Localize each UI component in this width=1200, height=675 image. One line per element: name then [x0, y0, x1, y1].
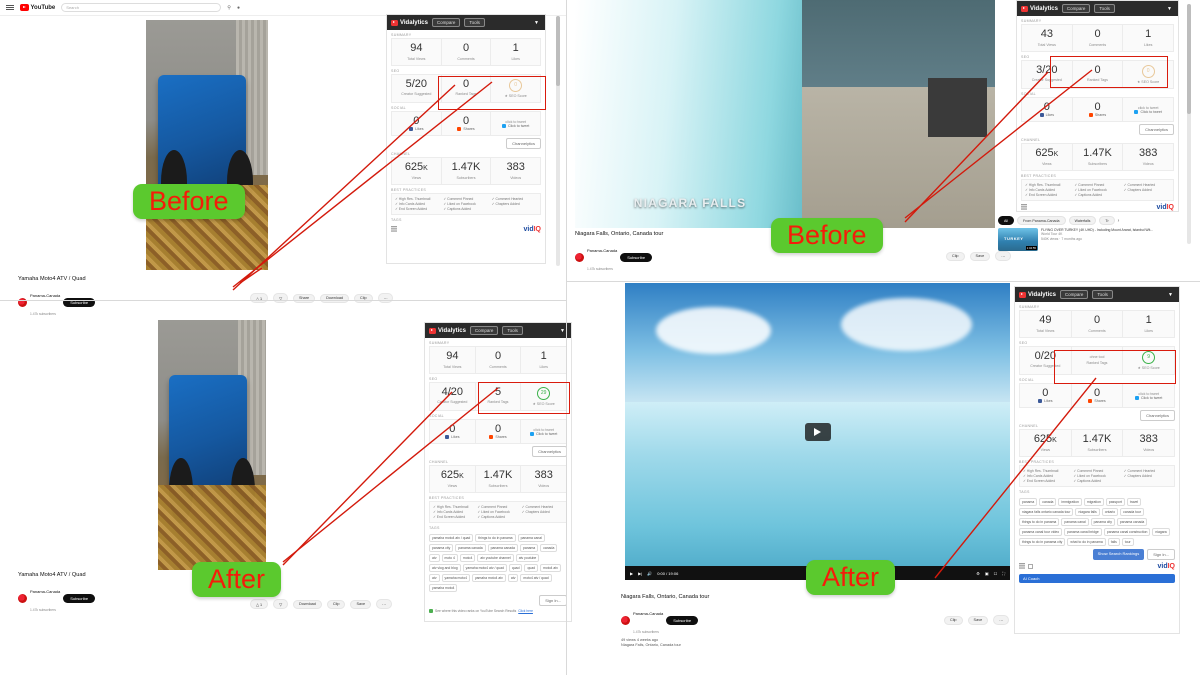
tag-chip[interactable]: atv: [508, 574, 519, 582]
bp-item: ✓ Liked on Facebook: [477, 510, 518, 514]
tag-buttons-row: Show Search Rankings Sign In...: [1019, 549, 1175, 560]
save-button[interactable]: Save: [968, 616, 989, 625]
compare-button[interactable]: Compare: [470, 326, 499, 335]
after-badge-right: After: [806, 560, 895, 595]
stat-social-shares: 0 Shares: [442, 112, 492, 136]
tag-chip[interactable]: atv: [429, 554, 440, 562]
channel-name[interactable]: Panama-Canada: [30, 293, 60, 298]
tag-chip[interactable]: things to do in panama: [1019, 518, 1059, 526]
stat-value: 1: [1124, 315, 1173, 327]
summary-section-label: SUMMARY: [1015, 302, 1179, 310]
stat-channel-subscribers: 1.47K Subscribers: [442, 158, 492, 184]
stat-label: Subscribers: [1073, 448, 1122, 452]
stat-social-likes: 0 Likes: [392, 112, 442, 136]
vidiq-play-icon: [1021, 6, 1028, 12]
bp-item: ✓ Info Cards Added: [395, 202, 440, 206]
suggested-thumbnail[interactable]: TURKEY 1:04:55: [998, 228, 1038, 251]
more-button[interactable]: ⋯: [995, 251, 1011, 261]
quadrant-top-left: YouTube Search ⚲ ● Yamaha Moto4 ATV / Qu…: [0, 0, 566, 300]
after-badge-left: After: [192, 562, 281, 597]
tag-chip[interactable]: yamaha moto4 atv: [472, 574, 506, 582]
best-practices-label: BEST PRACTICES: [425, 493, 571, 501]
chip-from-channel[interactable]: From Panama-Canada: [1017, 216, 1066, 225]
ai-coach-button[interactable]: AI Coach: [1019, 574, 1175, 583]
subscriber-count: 1.47k subscribers: [633, 630, 659, 634]
tag-chip[interactable]: moto4 atv: [540, 564, 561, 572]
stat-value: 0: [1021, 388, 1070, 400]
tag-chip[interactable]: atv youtube channel: [477, 554, 513, 562]
bp-item: ✓ Captions Added: [1073, 479, 1120, 483]
youtube-play-icon: [20, 4, 29, 11]
chevron-down-icon[interactable]: ▼: [534, 20, 541, 26]
video-title[interactable]: Yamaha Moto4 ATV / Quad: [18, 572, 138, 578]
video-action-bar: △ 1 ▽ Download Clip Save ⋯: [250, 599, 392, 609]
tag-chip[interactable]: panama canada: [455, 544, 485, 552]
tag-chip[interactable]: panama canada: [1117, 518, 1147, 526]
vidiq-logo: Vidalytics: [391, 20, 428, 26]
stat-value: 383: [1124, 434, 1173, 446]
autumn-leaves-ground: [158, 485, 266, 570]
channelytics-button[interactable]: Channelytics: [532, 446, 567, 457]
stat-label: Likes: [522, 365, 565, 369]
tag-chip[interactable]: panama city: [1091, 518, 1115, 526]
bp-item: ✓ High Res. Thumbnail: [1025, 183, 1071, 187]
video-thumbnail-atv-after[interactable]: [158, 320, 266, 570]
bp-item: ✓ Comment Hearted: [522, 505, 563, 509]
vidiq-brand-label: Vidalytics: [400, 20, 428, 26]
stat-label: Videos: [1124, 162, 1172, 166]
chip-all[interactable]: All: [998, 216, 1014, 225]
bp-item: ✓ Info Cards Added: [1025, 188, 1071, 192]
vidiq-panel-bottom-left: Vidalytics Compare Tools ▼ SUMMARY 94 To…: [424, 322, 572, 622]
stat-channel-videos: 383 Videos: [491, 158, 540, 184]
chevron-down-icon[interactable]: ▼: [1167, 6, 1174, 12]
tag-chip[interactable]: yamaha moto4 atv / quad: [463, 564, 507, 572]
video-description-block[interactable]: 49 views 4 weeks ago Niagara Falls, Onta…: [621, 638, 861, 647]
thumbnail-caption: NIAGARA FALLS: [634, 196, 747, 210]
tag-chip[interactable]: yamaha moto4: [442, 574, 470, 582]
summary-section-label: SUMMARY: [1017, 16, 1178, 24]
stat-value: 1: [492, 43, 539, 55]
youtube-logo[interactable]: YouTube: [20, 4, 55, 11]
tag-list-bottom-left: yamaha moto4 atv / quadthings to do in p…: [429, 534, 567, 592]
gear-icon[interactable]: ⚙: [976, 571, 980, 576]
bp-item: ✓ Captions Added: [1074, 193, 1120, 197]
tags-label: TAGS: [425, 523, 571, 531]
channel-section-label: CHANNEL: [425, 457, 571, 465]
dislike-button[interactable]: ▽: [273, 599, 288, 609]
miniplayer-icon[interactable]: ▣: [985, 571, 989, 576]
grid-icon[interactable]: [1021, 204, 1027, 210]
sign-in-button[interactable]: Sign In...: [1147, 549, 1175, 560]
quadrant-bottom-left: Yamaha Moto4 ATV / Quad Panama-Canada 1.…: [0, 300, 566, 630]
chevron-right-icon[interactable]: ›: [1118, 218, 1120, 224]
vidiq-logo: Vidalytics: [1019, 292, 1056, 298]
best-practices-grid: ✓ High Res. Thumbnail ✓ Comment Pinned ✓…: [429, 501, 567, 523]
bp-item: ✓ High Res. Thumbnail: [1023, 469, 1070, 473]
scrollbar-top-left[interactable]: [556, 16, 560, 266]
stat-label: Subscribers: [477, 484, 520, 488]
facebook-like[interactable]: Likes: [393, 127, 440, 131]
social-row: 0 Likes 0 Shares click to tweet Click to…: [391, 111, 541, 137]
hamburger-icon[interactable]: [6, 5, 14, 11]
twitter-share[interactable]: Click to tweet: [1124, 396, 1173, 400]
tools-button[interactable]: Tools: [1092, 290, 1113, 299]
chevron-down-icon[interactable]: ▼: [1168, 292, 1175, 298]
search-input[interactable]: Search: [61, 3, 221, 12]
avatar[interactable]: [18, 594, 27, 603]
tag-chip[interactable]: moto4: [460, 554, 475, 562]
seo-section-label: SEO: [387, 66, 545, 74]
video-player-niagara-after[interactable]: ▶ ▶| 🔊 0:00 / 19:06 ⚙ ▣ ☐ ⛶: [625, 283, 1010, 580]
channel-row-stats: 625K Views 1.47K Subscribers 383 Videos: [1021, 143, 1174, 171]
tag-chip[interactable]: panama: [1019, 498, 1037, 506]
stat-value: 625: [1034, 433, 1052, 445]
video-title[interactable]: Niagara Falls, Ontario, Canada tour: [575, 231, 775, 237]
bp-item: ✓ Comment Pinned: [443, 197, 488, 201]
suggested-sidebar: All From Panama-Canada Waterfalls Tr › T…: [998, 216, 1178, 251]
stat-social-likes: 0 Likes: [1022, 98, 1073, 122]
stat-label: Creator Suggested: [393, 92, 440, 96]
bp-item: ✓ Chapters Added: [1124, 474, 1171, 478]
stat-channel-videos: 383 Videos: [1123, 430, 1174, 456]
save-button[interactable]: Save: [350, 600, 371, 609]
download-button[interactable]: Download: [293, 600, 322, 609]
channelytics-button[interactable]: Channelytics: [1139, 124, 1174, 135]
tag-chip[interactable]: atv youtube: [516, 554, 540, 562]
stat-value: 625: [441, 469, 459, 481]
horizontal-divider-left: [0, 300, 566, 301]
tag-buttons-row: Sign In...: [429, 595, 567, 606]
seo-highlight-box-top-left: [438, 76, 546, 110]
play-icon[interactable]: ▶: [630, 571, 633, 576]
quadrant-bottom-right: ▶ ▶| 🔊 0:00 / 19:06 ⚙ ▣ ☐ ⛶ Niagara Fall…: [566, 282, 1200, 675]
stat-comments: 0 Comments: [1073, 25, 1124, 51]
channel-row-stats: 625K Views 1.47K Subscribers 383 Videos: [391, 157, 541, 185]
video-duration: 1:04:55: [1026, 246, 1037, 250]
tag-chip[interactable]: niagara falls: [1075, 508, 1099, 516]
footnote-link[interactable]: Click here: [518, 609, 533, 613]
before-badge-left: Before: [133, 184, 245, 219]
channel-section-label: CHANNEL: [387, 149, 545, 157]
summary-row: 49 Total Views 0 Comments 1 Likes: [1019, 310, 1175, 338]
vidiq-panel-bottom-right: Vidalytics Compare Tools ▼ SUMMARY 49 To…: [1014, 286, 1180, 634]
stat-label: Total Views: [393, 57, 440, 61]
stat-channel-subscribers: 1.47K Subscribers: [1073, 144, 1124, 170]
tag-chip[interactable]: passport: [1106, 498, 1125, 506]
video-thumbnail-niagara-before[interactable]: NIAGARA FALLS: [575, 0, 995, 228]
social-section-label: SOCIAL: [1017, 89, 1178, 97]
bp-item: ✓ Info Cards Added: [1023, 474, 1070, 478]
more-button[interactable]: ⋯: [376, 599, 392, 609]
seo-section-label: SEO: [425, 374, 571, 382]
tag-chip[interactable]: ontario: [1102, 508, 1118, 516]
facebook-like[interactable]: Likes: [1023, 113, 1071, 117]
tag-chip[interactable]: moto 4: [442, 554, 458, 562]
vidiq-footer: vidIQ: [1017, 201, 1178, 214]
stat-value: 625: [1035, 147, 1053, 159]
twitter-share[interactable]: Click to tweet: [522, 432, 565, 436]
vidiq-brand-footer: vidIQ: [1157, 563, 1175, 570]
summary-section-label: SUMMARY: [425, 338, 571, 346]
suggested-title[interactable]: FLYING OVER TURKEY (4K UHD) - Including …: [1041, 228, 1153, 232]
tag-chip[interactable]: what to do in panama: [1067, 538, 1105, 546]
grid-icon[interactable]: [1019, 563, 1025, 569]
stat-value: 0: [1074, 102, 1122, 114]
channel-section-label: CHANNEL: [1015, 421, 1179, 429]
search-icon[interactable]: ⚲: [227, 5, 231, 11]
video-action-bar: Clip Save ⋯: [944, 615, 1009, 625]
tag-chip[interactable]: immigration: [1058, 498, 1082, 506]
stat-value: 0: [393, 116, 440, 128]
stat-value: 0: [1074, 29, 1122, 41]
video-info-top-right: Niagara Falls, Ontario, Canada tour Pana…: [575, 231, 775, 275]
bp-item: ✓ End Screen Added: [433, 515, 474, 519]
video-info-bottom-left: Yamaha Moto4 ATV / Quad Panama-Canada 1.…: [18, 572, 138, 616]
fullscreen-icon[interactable]: ⛶: [1002, 571, 1005, 576]
show-search-rankings-button[interactable]: Show Search Rankings: [1093, 549, 1145, 560]
stat-label: Views: [393, 176, 440, 180]
tag-chip[interactable]: panama canal bridge: [1064, 528, 1102, 536]
stat-value: 383: [522, 470, 565, 482]
bp-item: ✓ Comment Pinned: [477, 505, 518, 509]
stat-total-views: 43 Total Views: [1022, 25, 1073, 51]
tag-chip[interactable]: niagara: [1152, 528, 1169, 536]
footnote-text: See where this video ranks on YouTube Se…: [435, 609, 516, 613]
stat-value: 1: [522, 351, 565, 363]
subscribe-button[interactable]: Subscribe: [620, 253, 652, 262]
sign-in-button[interactable]: Sign In...: [539, 595, 567, 606]
vidiq-play-icon: [391, 20, 398, 26]
stat-label: Comments: [477, 365, 520, 369]
channelytics-button[interactable]: Channelytics: [1140, 410, 1175, 421]
scrollbar-top-right[interactable]: [1187, 4, 1191, 244]
vidiq-brand-footer: vidIQ: [523, 226, 541, 233]
big-play-button[interactable]: [805, 423, 831, 441]
next-icon[interactable]: ▶|: [638, 571, 642, 576]
best-practices-grid: ✓ High Res. Thumbnail ✓ Comment Pinned ✓…: [1019, 465, 1175, 487]
stat-value: 94: [431, 351, 474, 363]
tag-chip[interactable]: quad: [524, 564, 538, 572]
tag-chip[interactable]: yamaha moto4: [429, 584, 457, 592]
chip-waterfalls[interactable]: Waterfalls: [1069, 216, 1097, 225]
green-tag-swatch: [429, 609, 433, 613]
tag-chip[interactable]: canada: [540, 544, 557, 552]
stat-value: 1.47K: [443, 162, 490, 174]
tag-chip[interactable]: panama canal: [1061, 518, 1088, 526]
stat-channel-views: 625K Views: [1020, 430, 1072, 456]
clip-button[interactable]: Clip: [944, 616, 963, 625]
bp-item: ✓ Liked on Facebook: [1073, 474, 1120, 478]
chip-more[interactable]: Tr: [1099, 216, 1114, 225]
more-button[interactable]: ⋯: [993, 615, 1009, 625]
reddit-share[interactable]: Shares: [477, 435, 520, 439]
tag-chip[interactable]: atv: [429, 574, 440, 582]
bp-item: ✓ End Screen Added: [1025, 193, 1071, 197]
stat-label: Total Views: [1023, 43, 1071, 47]
channel-row: Panama-Canada 1.47k subscribers Subscrib…: [575, 239, 775, 275]
vidiq-footer: vidIQ: [387, 223, 545, 236]
subscribe-button[interactable]: Subscribe: [666, 616, 698, 625]
subscriber-count: 1.47k subscribers: [30, 608, 56, 612]
tag-chip[interactable]: canada: [1039, 498, 1056, 506]
vidiq-header: Vidalytics Compare Tools ▼: [1017, 1, 1178, 16]
list-icon[interactable]: [1028, 564, 1033, 569]
subscribe-button[interactable]: Subscribe: [63, 594, 95, 603]
youtube-wordmark: YouTube: [31, 5, 56, 11]
stat-label: Total Views: [431, 365, 474, 369]
stat-creator-suggested: 5/20 Creator Suggested: [392, 75, 442, 102]
video-thumbnail-atv-before[interactable]: [146, 20, 268, 270]
quadrant-top-right: NIAGARA FALLS Niagara Falls, Ontario, Ca…: [566, 0, 1200, 282]
tag-chip[interactable]: yamaha moto4 atv / quad: [429, 534, 473, 542]
channel-name[interactable]: Panama-Canada: [587, 248, 617, 253]
avatar[interactable]: [621, 616, 630, 625]
vidiq-logo: Vidalytics: [1021, 6, 1058, 12]
channel-name[interactable]: Panama-Canada: [30, 589, 60, 594]
bp-item: ✓ Info Cards Added: [433, 510, 474, 514]
social-row: 0 Likes 0 Shares click to tweet Click to…: [429, 419, 567, 445]
stat-value: 0: [443, 43, 490, 55]
twitter-share[interactable]: Click to tweet: [1124, 110, 1172, 114]
tag-chip[interactable]: panama canal tour video: [1019, 528, 1062, 536]
seo-highlight-box-bottom-left: [478, 382, 570, 414]
stat-channel-subscribers: 1.47K Subscribers: [1072, 430, 1124, 456]
compare-button[interactable]: Compare: [1062, 4, 1091, 13]
tag-chip[interactable]: migration: [1084, 498, 1104, 506]
microphone-icon[interactable]: ●: [237, 5, 240, 11]
bp-item: ✓ Chapters Added: [492, 202, 537, 206]
suggested-meta: 540K views · 7 months ago: [1041, 237, 1082, 241]
tag-chip[interactable]: panama: [520, 544, 538, 552]
stat-social-shares: 0 Shares: [1072, 384, 1124, 408]
best-practices-label: BEST PRACTICES: [1015, 457, 1179, 465]
stat-label: Views: [431, 484, 474, 488]
twitter-share[interactable]: Click to tweet: [492, 124, 539, 128]
stat-label: Videos: [492, 176, 539, 180]
bp-item: ✓ Comment Hearted: [492, 197, 537, 201]
stat-creator-suggested: 4/20 Creator Suggested: [430, 383, 476, 410]
stat-value: 383: [1124, 148, 1172, 160]
stat-total-views: 94 Total Views: [430, 347, 476, 373]
stat-comments: 0 Comments: [442, 39, 492, 65]
tools-button[interactable]: Tools: [464, 18, 485, 27]
tag-chip[interactable]: panama canada: [488, 544, 518, 552]
bp-item: ✓ End Screen Added: [1023, 479, 1070, 483]
stat-label: Total Views: [1021, 329, 1070, 333]
tools-button[interactable]: Tools: [502, 326, 523, 335]
tag-chip[interactable]: panama city: [429, 544, 453, 552]
tag-chip[interactable]: things to do in panama: [475, 534, 515, 542]
vertical-divider: [566, 0, 567, 675]
stat-label: Subscribers: [1074, 162, 1122, 166]
clip-button[interactable]: Clip: [327, 600, 346, 609]
volume-icon[interactable]: 🔊: [647, 571, 652, 576]
player-time: 0:00 / 19:06: [657, 571, 678, 576]
channel-name[interactable]: Panama-Canada: [633, 611, 663, 616]
seo-highlight-box-bottom-right: [1054, 350, 1176, 384]
stat-label: Likes: [1124, 329, 1173, 333]
tag-chip[interactable]: things to do in panama city: [1019, 538, 1065, 546]
stat-value: 1.47K: [1073, 434, 1122, 446]
tag-chip[interactable]: canada tour: [1120, 508, 1144, 516]
stat-value: 0: [477, 351, 520, 363]
vidiq-play-icon: [1019, 292, 1026, 298]
tag-chip[interactable]: panama canal construction: [1104, 528, 1151, 536]
tag-chip[interactable]: falls: [1108, 538, 1120, 546]
grid-icon[interactable]: [391, 226, 397, 232]
channel-row-stats: 625K Views 1.47K Subscribers 383 Videos: [1019, 429, 1175, 457]
stat-label: Subscribers: [443, 176, 490, 180]
bp-item: ✓ High Res. Thumbnail: [433, 505, 474, 509]
summary-row: 94 Total Views 0 Comments 1 Likes: [429, 346, 567, 374]
facebook-like[interactable]: Likes: [1021, 399, 1070, 403]
social-row: 0 Likes 0 Shares click to tweet Click to…: [1019, 383, 1175, 409]
vidiq-header: Vidalytics Compare Tools ▼: [1015, 287, 1179, 302]
tag-chip[interactable]: niagara falls ontario canada tour: [1019, 508, 1073, 516]
stat-click-to-tweet: click to tweet Click to tweet: [1123, 98, 1173, 122]
facebook-like[interactable]: Likes: [431, 435, 474, 439]
vidiq-panel-top-left: Vidalytics Compare Tools ▼ SUMMARY 94 To…: [386, 14, 546, 264]
video-title[interactable]: Yamaha Moto4 ATV / Quad: [18, 276, 138, 282]
tag-chip[interactable]: atv vlog and blog: [429, 564, 461, 572]
tags-label: TAGS: [387, 215, 545, 223]
vidiq-brand-label: Vidalytics: [1030, 6, 1058, 12]
like-button[interactable]: △ 1: [250, 599, 268, 609]
before-badge-right: Before: [771, 218, 883, 253]
suggested-video-item[interactable]: TURKEY 1:04:55 FLYING OVER TURKEY (4K UH…: [998, 228, 1178, 251]
compare-button[interactable]: Compare: [1060, 290, 1089, 299]
bp-item: ✓ Liked on Facebook: [1074, 188, 1120, 192]
reddit-share[interactable]: Shares: [1074, 113, 1122, 117]
vidiq-header: Vidalytics Compare Tools ▼: [387, 15, 545, 30]
stat-label: Creator Suggested: [431, 400, 474, 404]
tag-chip[interactable]: quad: [509, 564, 523, 572]
best-practices-label: BEST PRACTICES: [387, 185, 545, 193]
bp-item: ✓ Chapters Added: [522, 510, 563, 514]
tag-chip[interactable]: tour: [1122, 538, 1134, 546]
stat-label: Views: [1023, 162, 1071, 166]
channel-row: Panama-Canada 1.47k subscribers Subscrib…: [621, 602, 851, 638]
save-button[interactable]: Save: [970, 252, 991, 261]
reddit-share[interactable]: Shares: [443, 127, 490, 131]
clip-button[interactable]: Clip: [946, 252, 965, 261]
suggested-channel[interactable]: World Tour 4K: [1041, 232, 1062, 236]
tag-chip[interactable]: moto4 atv / quad: [520, 574, 551, 582]
building: [928, 78, 987, 137]
stat-likes: 1 Likes: [521, 347, 566, 373]
tag-chip[interactable]: travel: [1127, 498, 1141, 506]
tags-label: TAGS: [1015, 487, 1179, 495]
bp-item: ✓ Liked on Facebook: [443, 202, 488, 206]
bp-item: ✓ Comment Hearted: [1124, 183, 1170, 187]
seo-highlight-box-top-right: [1050, 56, 1168, 88]
tag-chip[interactable]: panama canal: [518, 534, 545, 542]
stat-value: 1.47K: [477, 470, 520, 482]
horizontal-divider-right: [566, 281, 1200, 282]
bp-item: ✓ Captions Added: [477, 515, 518, 519]
compare-button[interactable]: Compare: [432, 18, 461, 27]
stat-label: Videos: [1124, 448, 1173, 452]
theater-icon[interactable]: ☐: [994, 571, 998, 576]
tools-button[interactable]: Tools: [1094, 4, 1115, 13]
reddit-share[interactable]: Shares: [1073, 399, 1122, 403]
channelytics-button[interactable]: Channelytics: [506, 138, 541, 149]
stat-label: Comments: [443, 57, 490, 61]
vidiq-brand-label: Vidalytics: [438, 328, 466, 334]
stat-value: 0: [1023, 102, 1071, 114]
avatar[interactable]: [575, 253, 584, 262]
